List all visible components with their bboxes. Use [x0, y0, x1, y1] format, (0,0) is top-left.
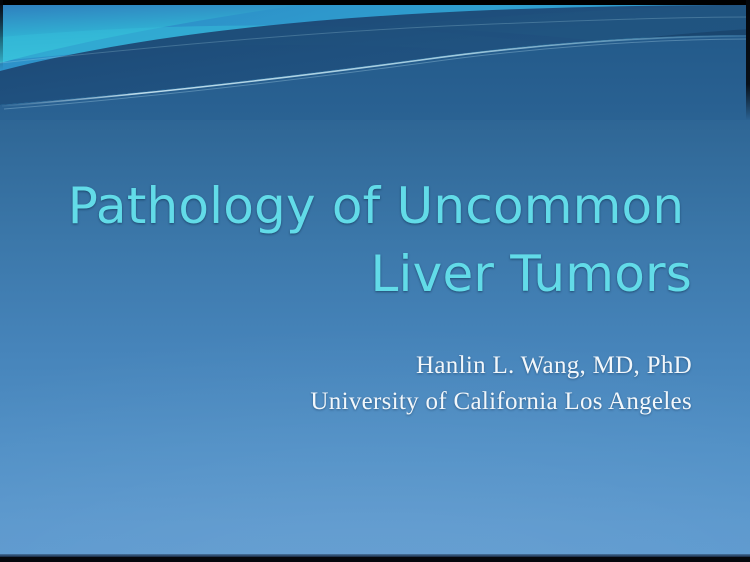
slide-title-line-2: Liver Tumors [60, 240, 692, 308]
presenter-affiliation: University of California Los Angeles [60, 384, 692, 420]
presentation-slide: Pathology of Uncommon Liver Tumors Hanli… [0, 0, 750, 562]
slide-title: Pathology of Uncommon Liver Tumors [60, 172, 692, 308]
slide-content: Pathology of Uncommon Liver Tumors Hanli… [0, 0, 750, 562]
presenter-name: Hanlin L. Wang, MD, PhD [60, 348, 692, 384]
slide-subtitle: Hanlin L. Wang, MD, PhD University of Ca… [60, 348, 692, 420]
slide-title-line-1: Pathology of Uncommon [60, 172, 692, 240]
